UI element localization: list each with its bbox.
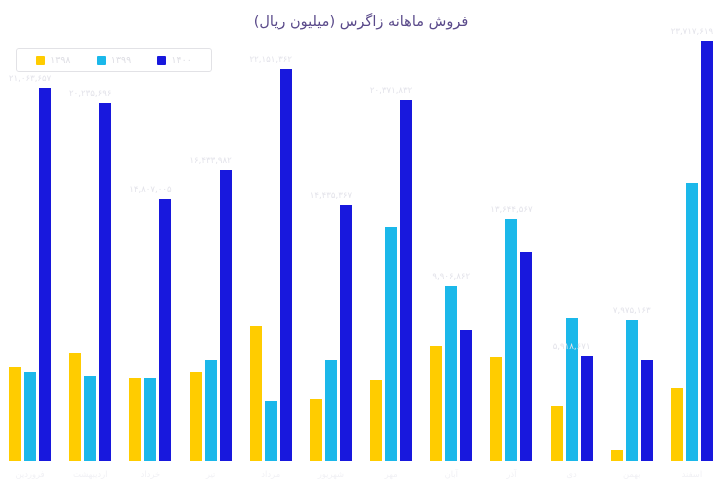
bar-group — [241, 36, 301, 461]
bar[interactable] — [99, 103, 111, 461]
bar-group — [602, 36, 662, 461]
x-axis-tick-label: بهمن — [623, 469, 640, 479]
bar[interactable] — [505, 219, 517, 461]
bar-data-label: ۱۴,۴۳۵,۳۶۷ — [310, 191, 352, 201]
bar[interactable] — [9, 367, 21, 461]
bar[interactable] — [520, 252, 532, 461]
bar-data-label: ۲۰,۳۷۱,۸۳۲ — [370, 86, 412, 96]
bar[interactable] — [69, 353, 81, 461]
bar-group-bars — [120, 36, 180, 461]
bar[interactable] — [626, 320, 638, 461]
x-axis-tick-label: مهر — [385, 469, 398, 479]
bar[interactable] — [220, 170, 232, 461]
bar[interactable] — [24, 372, 36, 461]
bar[interactable] — [641, 360, 653, 461]
x-axis-tick-label: آذر — [506, 469, 516, 479]
bar[interactable] — [205, 360, 217, 461]
bar[interactable] — [611, 450, 623, 461]
bar[interactable] — [460, 330, 472, 461]
bar[interactable] — [686, 183, 698, 461]
bar[interactable] — [701, 41, 713, 461]
bar[interactable] — [280, 69, 292, 461]
plot-area: ۲۱,۰۶۳,۶۵۷۲۰,۲۳۵,۶۹۶۱۴,۸۰۷,۰۰۵۱۶,۴۳۳,۹۸۲… — [0, 36, 722, 461]
x-axis-tick-label: دی — [566, 469, 576, 479]
chart-title: فروش ماهانه زاگرس (میلیون ریال) — [0, 14, 722, 30]
bar-data-label: ۷,۹۷۵,۱۶۳ — [613, 306, 651, 316]
bar-data-label: ۲۳,۷۱۷,۶۱۹ — [671, 27, 713, 37]
bar-group-bars — [60, 36, 120, 461]
x-axis-tick-label: خرداد — [141, 469, 161, 479]
bar-group — [181, 36, 241, 461]
bar-group-bars — [241, 36, 301, 461]
bar-data-label: ۹,۹۰۶,۸۶۲ — [432, 272, 470, 282]
bar[interactable] — [551, 406, 563, 461]
bar-group — [662, 36, 722, 461]
bar-data-label: ۱۳,۶۴۴,۵۶۷ — [490, 205, 532, 215]
x-axis-tick-label: فروردین — [16, 469, 45, 479]
bar-group — [60, 36, 120, 461]
bar-data-label: ۲۲,۱۵۱,۳۶۲ — [250, 55, 292, 65]
bar[interactable] — [310, 399, 322, 461]
bar-group — [0, 36, 60, 461]
bar[interactable] — [671, 388, 683, 461]
bar-group-bars — [481, 36, 541, 461]
bar[interactable] — [430, 346, 442, 461]
x-axis-tick-label: اسفند — [682, 469, 703, 479]
bar-group — [120, 36, 180, 461]
bar[interactable] — [581, 356, 593, 461]
bar[interactable] — [370, 380, 382, 461]
bar[interactable] — [250, 326, 262, 461]
bar[interactable] — [159, 199, 171, 461]
bar-group-bars — [301, 36, 361, 461]
bar-group — [421, 36, 481, 461]
bar[interactable] — [385, 227, 397, 461]
x-axis-tick-label: شهریور — [318, 469, 344, 479]
bar[interactable] — [340, 205, 352, 461]
x-axis-tick-label: آبان — [445, 469, 458, 479]
bar[interactable] — [325, 360, 337, 461]
bar[interactable] — [39, 88, 51, 461]
x-axis-tick-label: مرداد — [261, 469, 280, 479]
bar-data-label: ۱۴,۸۰۷,۰۰۵ — [129, 185, 171, 195]
bar[interactable] — [129, 378, 141, 461]
bar[interactable] — [144, 378, 156, 461]
bar[interactable] — [190, 372, 202, 461]
bar-group-bars — [361, 36, 421, 461]
bar-data-label: ۲۱,۰۶۳,۶۵۷ — [9, 74, 51, 84]
bar-group — [301, 36, 361, 461]
bar-group-bars — [181, 36, 241, 461]
bar-data-label: ۲۰,۲۳۵,۶۹۶ — [69, 89, 111, 99]
bar-group-bars — [421, 36, 481, 461]
x-axis: فروردیناردیبهشتخردادتیرمردادشهریورمهرآبا… — [0, 466, 722, 489]
bar[interactable] — [566, 318, 578, 461]
bar[interactable] — [490, 357, 502, 461]
x-axis-tick-label: اردیبهشت — [73, 469, 108, 479]
bar-group-bars — [542, 36, 602, 461]
bar-group — [542, 36, 602, 461]
bar-group — [481, 36, 541, 461]
chart-container: فروش ماهانه زاگرس (میلیون ریال) ۱۳۹۸ ۱۳۹… — [0, 0, 722, 489]
bar-group-bars — [662, 36, 722, 461]
bar-group-bars — [0, 36, 60, 461]
bar-data-label: ۵,۹۱۸,۶۷۱ — [553, 342, 591, 352]
bar-group-bars — [602, 36, 662, 461]
bar[interactable] — [400, 100, 412, 461]
bar[interactable] — [265, 401, 277, 461]
bar-data-label: ۱۶,۴۳۳,۹۸۲ — [189, 156, 231, 166]
bar[interactable] — [445, 286, 457, 461]
x-axis-tick-label: تیر — [206, 469, 215, 479]
bar-group — [361, 36, 421, 461]
bar[interactable] — [84, 376, 96, 461]
